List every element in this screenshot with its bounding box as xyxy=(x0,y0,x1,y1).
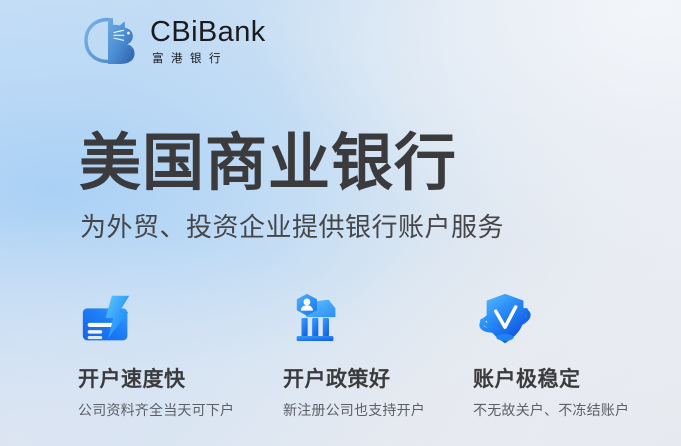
shield-check-orbit-icon xyxy=(474,288,536,350)
brand-logo-text: CBiBank 富港银行 xyxy=(150,16,266,66)
feature-description: 不无故关户、不冻结账户 xyxy=(473,403,629,417)
feature-title: 开户速度快 xyxy=(78,369,234,390)
feature-description: 公司资料齐全当天可下户 xyxy=(78,403,234,417)
brand-chinese-name: 富港银行 xyxy=(152,54,266,66)
feature-item: 开户政策好 新注册公司也支持开户 xyxy=(283,288,425,417)
feature-item: 账户极稳定 不无故关户、不冻结账户 xyxy=(473,288,629,417)
hero-subheadline: 为外贸、投资企业提供银行账户服务 xyxy=(80,214,504,240)
hero-headline: 美国商业银行 xyxy=(79,133,457,195)
bank-building-user-icon xyxy=(285,288,347,350)
cbibank-cat-logo-icon xyxy=(78,14,140,68)
feature-title: 账户极稳定 xyxy=(473,369,629,390)
card-lightning-icon xyxy=(78,288,140,350)
brand-logo[interactable]: CBiBank 富港银行 xyxy=(78,14,266,68)
brand-wordmark: CBiBank xyxy=(150,18,266,47)
cbibank-promo-banner: CBiBank 富港银行 美国商业银行 为外贸、投资企业提供银行账户服务 xyxy=(0,0,681,446)
feature-title: 开户政策好 xyxy=(283,369,425,390)
feature-item: 开户速度快 公司资料齐全当天可下户 xyxy=(78,288,234,417)
feature-list: 开户速度快 公司资料齐全当天可下户 xyxy=(0,288,681,438)
feature-description: 新注册公司也支持开户 xyxy=(283,403,425,417)
